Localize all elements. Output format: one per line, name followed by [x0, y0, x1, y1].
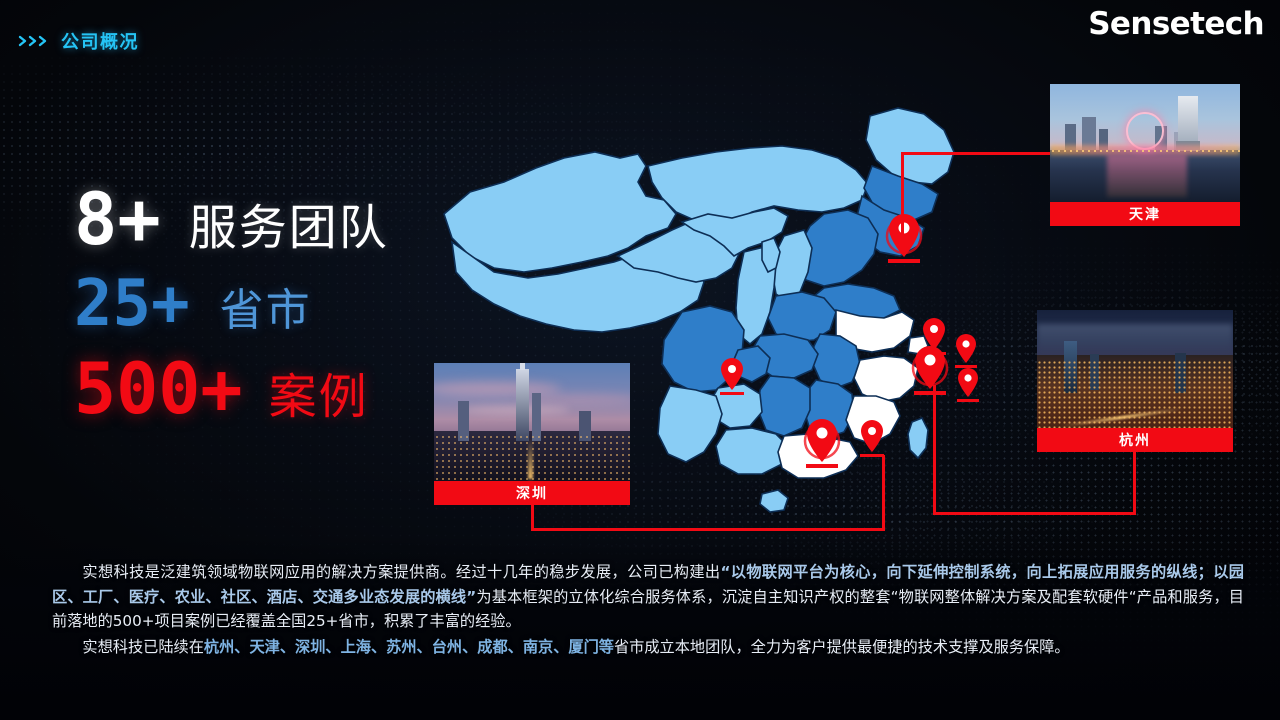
chevrons-right-icon	[18, 34, 52, 48]
city-card-hangzhou[interactable]: 杭州	[1037, 310, 1233, 452]
stat-row-cases: 500+ 案例	[74, 354, 389, 424]
city-card-label-tianjin: 天津	[1050, 202, 1240, 226]
slide-header: 公司概况 Sensetech	[0, 0, 1280, 62]
stat-number-cases: 500+	[74, 354, 243, 424]
pin-taizhou	[957, 368, 979, 402]
stat-label-teams: 服务团队	[189, 205, 389, 253]
section-title-group: 公司概况	[18, 28, 139, 54]
stat-row-provinces: 25+ 省市	[74, 272, 389, 336]
slide-canvas: 公司概况 Sensetech 8+ 服务团队 25+ 省市 500+ 案例	[0, 0, 1280, 720]
page-title: 公司概况	[61, 28, 139, 54]
stat-label-provinces: 省市	[220, 289, 312, 333]
brand-logo: Sensetech	[1088, 6, 1264, 42]
p2-text-a: 实想科技已陆续在	[82, 638, 204, 656]
stats-block: 8+ 服务团队 25+ 省市 500+ 案例	[74, 183, 389, 424]
pin-hangzhou	[913, 346, 947, 395]
stat-label-cases: 案例	[269, 374, 369, 422]
shenzhen-skyline-photo	[434, 363, 630, 481]
city-card-label-hangzhou: 杭州	[1037, 428, 1233, 452]
body-copy: 实想科技是泛建筑领域物联网应用的解决方案提供商。经过十几年的稳步发展，公司已构建…	[52, 560, 1244, 660]
stat-row-teams: 8+ 服务团队	[74, 183, 389, 255]
pin-tianjin	[887, 214, 921, 263]
city-card-label-shenzhen: 深圳	[434, 481, 630, 505]
city-card-shenzhen[interactable]: 深圳	[434, 363, 630, 505]
paragraph-1: 实想科技是泛建筑领域物联网应用的解决方案提供商。经过十几年的稳步发展，公司已构建…	[52, 560, 1244, 634]
p1-text-a: 实想科技是泛建筑领域物联网应用的解决方案提供商。经过十几年的稳步发展，公司已构建…	[82, 563, 720, 581]
p2-text-b: 省市成立本地团队，全力为客户提供最便捷的技术支撑及服务保障。	[614, 638, 1070, 656]
paragraph-2: 实想科技已陆续在杭州、天津、深圳、上海、苏州、台州、成都、南京、厦门等省市成立本…	[52, 635, 1244, 660]
stat-number-provinces: 25+	[74, 272, 190, 336]
pin-xiamen	[860, 420, 884, 457]
pin-shanghai	[955, 334, 977, 368]
pin-shenzhen	[805, 419, 839, 468]
p2-highlight-cities: 杭州、天津、深圳、上海、苏州、台州、成都、南京、厦门等	[204, 638, 614, 656]
stat-number-teams: 8+	[74, 183, 161, 255]
tianjin-skyline-photo	[1050, 84, 1240, 202]
pin-chengdu	[720, 358, 744, 395]
hangzhou-skyline-photo	[1037, 310, 1233, 428]
city-card-tianjin[interactable]: 天津	[1050, 84, 1240, 226]
